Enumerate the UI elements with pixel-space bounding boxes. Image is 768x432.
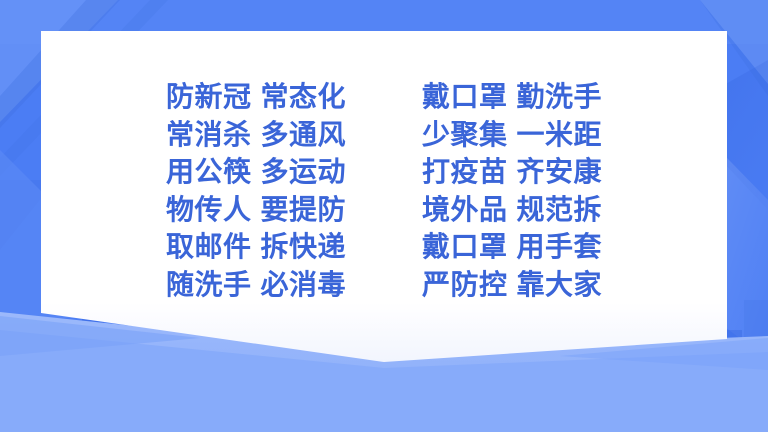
poster-stage: 防新冠常态化 常消杀多通风 用公筷多运动 物传人要提防 取邮件拆快递 随洗手必消… xyxy=(0,0,768,432)
card-shape xyxy=(41,31,727,362)
slogan-card xyxy=(0,0,768,432)
